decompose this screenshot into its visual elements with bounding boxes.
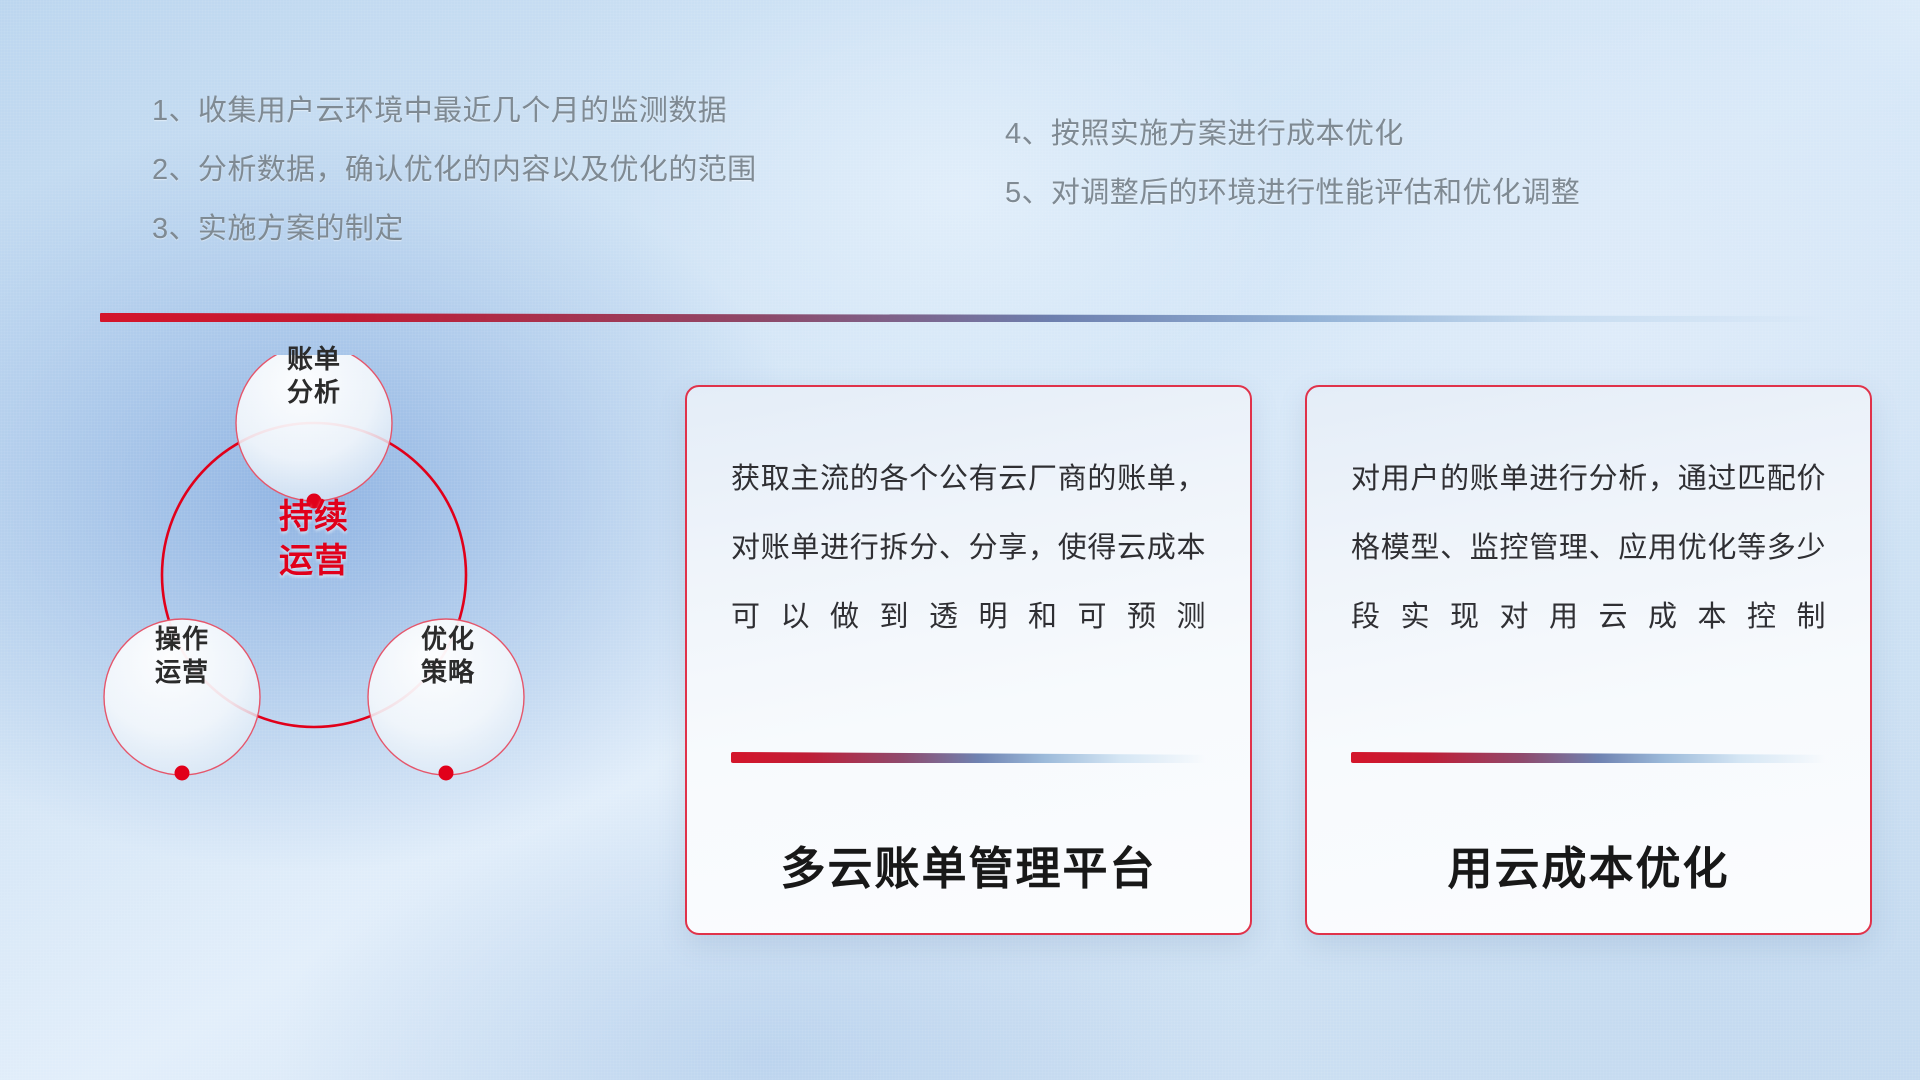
card-body-text: 对用户的账单进行分析，通过匹配价格模型、监控管理、应用优化等多少段实现对用云成本…	[1351, 445, 1826, 725]
venn-node-dot-bottom-left	[175, 766, 190, 781]
venn-label-bill-analysis: 账单 分析	[244, 343, 384, 410]
card-body-text: 获取主流的各个公有云厂商的账单，对账单进行拆分、分享，使得云成本可以做到透明和可…	[731, 445, 1206, 725]
card-accent-rule	[731, 752, 1206, 763]
steps-right-column: 4、按照实施方案进行成本优化 5、对调整后的环境进行性能评估和优化调整	[1005, 120, 1580, 238]
step-item-3: 3、实施方案的制定	[152, 215, 757, 244]
venn-label-operation: 操作 运营	[112, 623, 252, 690]
card-title: 用云成本优化	[1351, 832, 1826, 897]
card-accent-rule	[1351, 752, 1826, 763]
step-item-2: 2、分析数据，确认优化的内容以及优化的范围	[152, 156, 757, 185]
venn-label-strategy: 优化 策略	[378, 623, 518, 690]
steps-left-column: 1、收集用户云环境中最近几个月的监测数据 2、分析数据，确认优化的内容以及优化的…	[152, 97, 757, 274]
venn-node-dot-bottom-right	[439, 766, 454, 781]
step-item-1: 1、收集用户云环境中最近几个月的监测数据	[152, 97, 757, 126]
venn-diagram: 账单 分析 操作 运营 优化 策略 持续 运营	[96, 355, 616, 915]
step-item-5: 5、对调整后的环境进行性能评估和优化调整	[1005, 179, 1580, 208]
feature-card-cloud-cost-optimization[interactable]: 对用户的账单进行分析，通过匹配价格模型、监控管理、应用优化等多少段实现对用云成本…	[1305, 385, 1872, 935]
card-title: 多云账单管理平台	[731, 832, 1206, 897]
feature-card-multicloud-billing[interactable]: 获取主流的各个公有云厂商的账单，对账单进行拆分、分享，使得云成本可以做到透明和可…	[685, 385, 1252, 935]
step-item-4: 4、按照实施方案进行成本优化	[1005, 120, 1580, 149]
venn-label-continuous-operation: 持续 运营	[234, 495, 394, 583]
